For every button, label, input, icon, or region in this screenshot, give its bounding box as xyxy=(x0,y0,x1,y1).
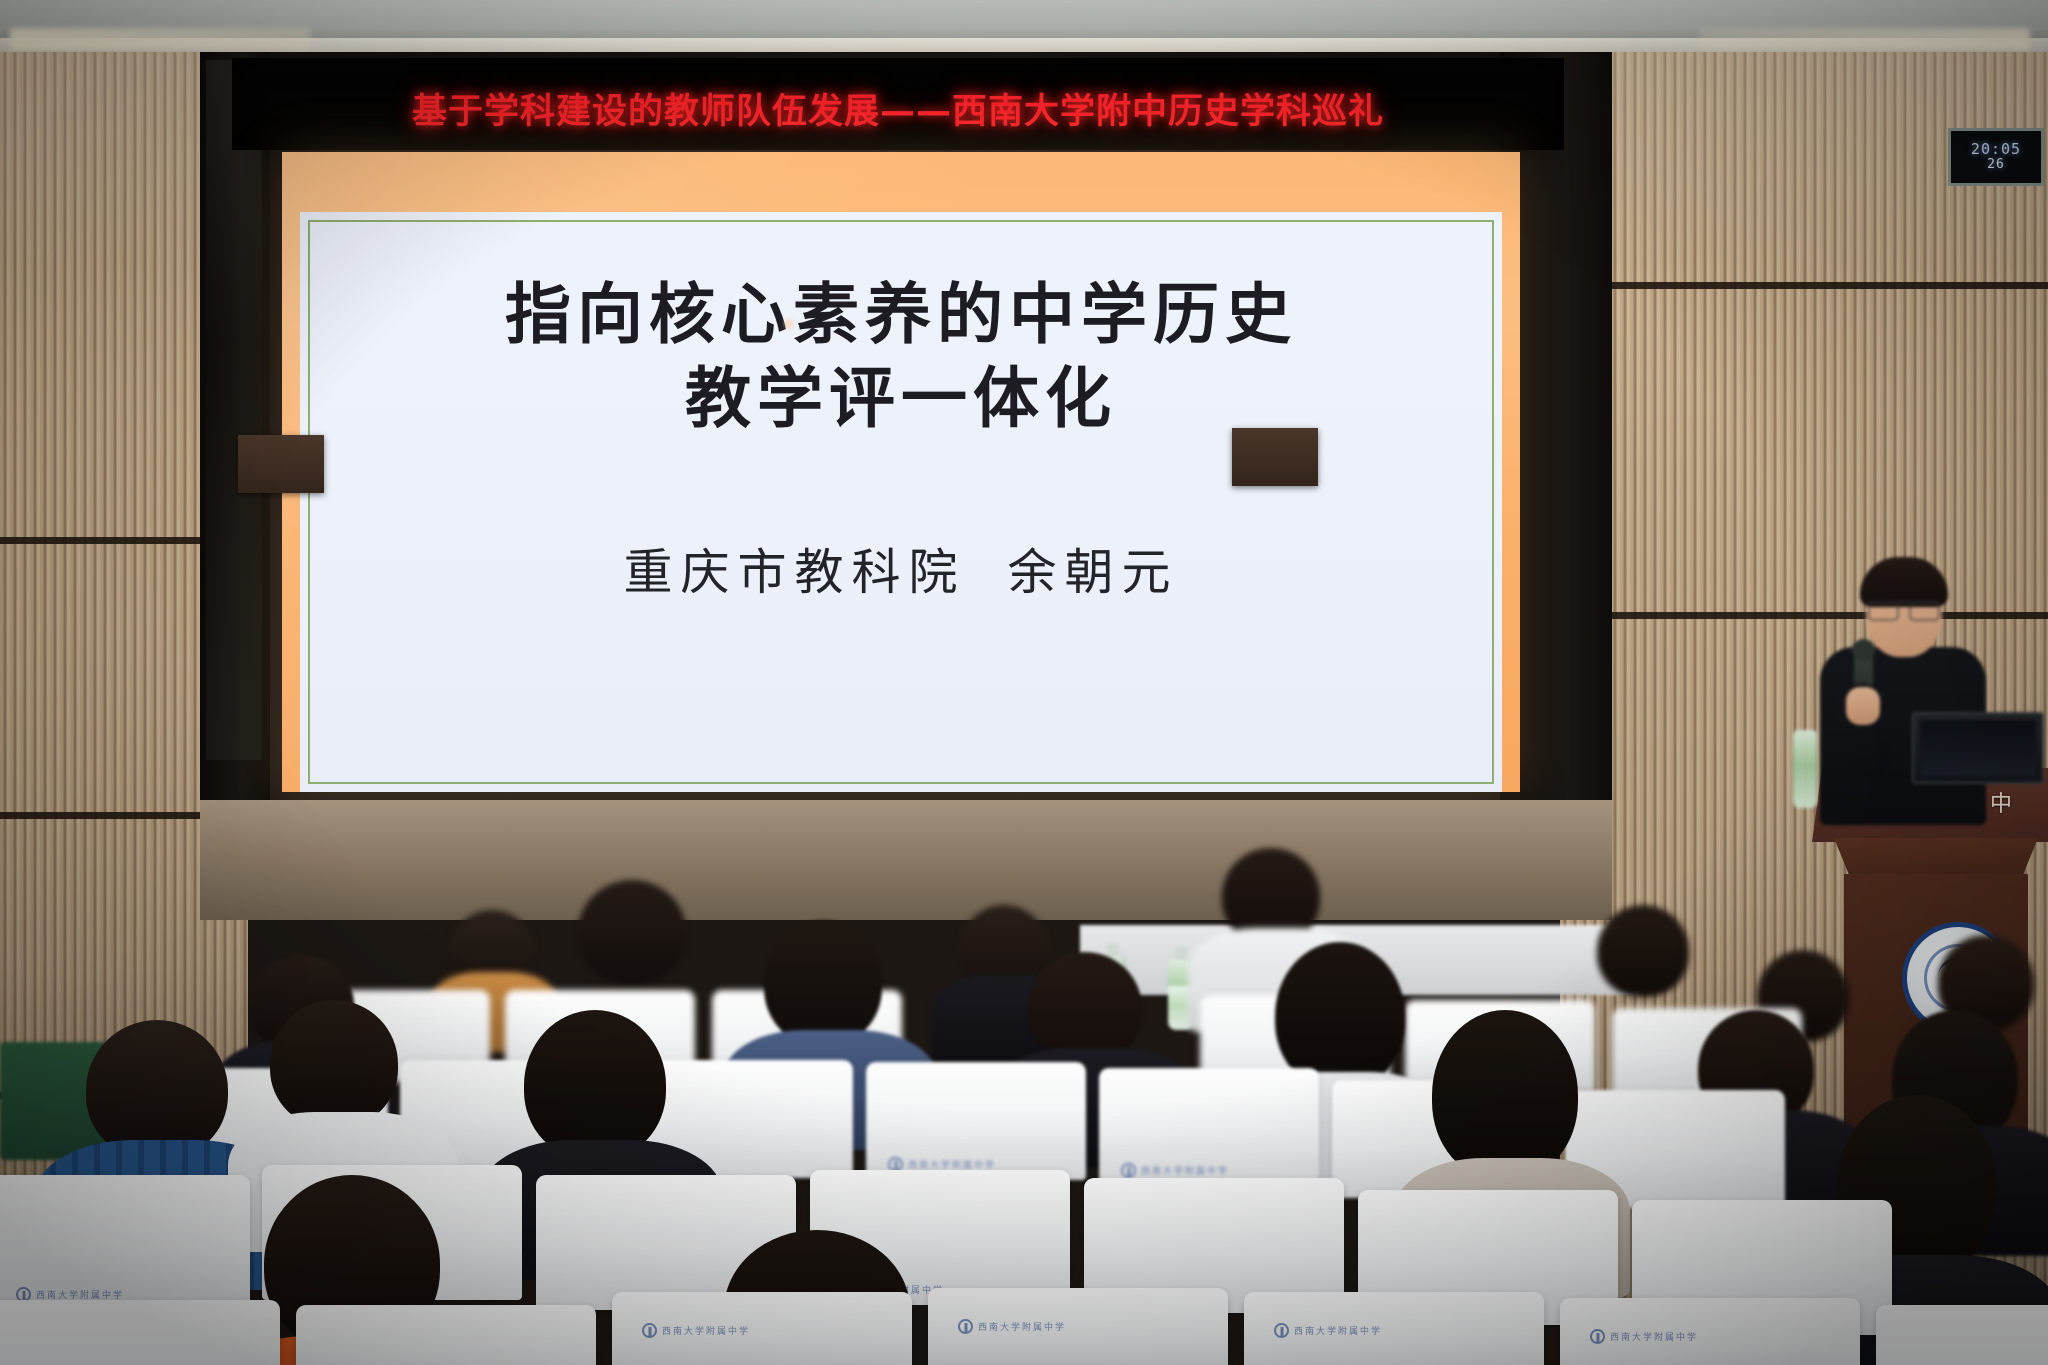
chair-logo-text: 西南大学附属中学 xyxy=(908,1158,996,1171)
glasses-icon xyxy=(1868,601,1940,617)
ceiling-light-left xyxy=(10,28,310,50)
column-glass-left xyxy=(206,60,262,760)
chair: 西南大学附属中学 xyxy=(928,1288,1228,1365)
projection-screen: 指向核心素养的中学历史 教学评一体化 重庆市教科院余朝元 xyxy=(282,152,1520,792)
chair-logo: 西南大学附属中学 xyxy=(642,1322,882,1338)
school-logo-icon xyxy=(1590,1329,1605,1344)
stage-front-edge xyxy=(200,800,1612,920)
water-bottle xyxy=(1793,730,1817,808)
chair-logo: 西南大学附属中学 xyxy=(958,1318,1198,1334)
chair: 西南大学附属中学 xyxy=(0,1175,250,1310)
chair-logo: 西南大学附属中学 xyxy=(1274,1322,1514,1338)
chair-logo-text: 西南大学附属中学 xyxy=(1294,1324,1382,1337)
presenter-hair xyxy=(1860,557,1948,607)
presentation-slide: 指向核心素养的中学历史 教学评一体化 重庆市教科院余朝元 xyxy=(300,212,1502,792)
screen-mount-left xyxy=(238,435,324,493)
chair-logo-text: 西南大学附属中学 xyxy=(1610,1330,1698,1343)
school-logo-icon xyxy=(958,1319,973,1334)
slide-title-line-2: 教学评一体化 xyxy=(685,356,1117,440)
chair-logo-text: 西南大学附属中学 xyxy=(978,1320,1066,1333)
chair: 西南大学附属中学 xyxy=(1244,1292,1544,1365)
chair-logo: 西南大学附属中学 xyxy=(1590,1328,1830,1344)
slide-title-line-1: 指向核心素养的中学历史 xyxy=(505,272,1297,356)
person-head xyxy=(578,880,686,984)
screen-mount-right xyxy=(1232,428,1318,486)
person-head xyxy=(1432,1010,1578,1180)
audience-person xyxy=(560,880,710,1000)
chair-logo-text: 西南大学附属中学 xyxy=(662,1324,750,1337)
school-logo-icon xyxy=(1274,1323,1289,1338)
slide-presenter-line: 重庆市教科院余朝元 xyxy=(623,533,1178,604)
school-logo-icon xyxy=(642,1323,657,1338)
chair-logo: 西南大学附属中学 xyxy=(1121,1162,1297,1178)
podium-neck xyxy=(1834,838,2038,878)
chair-logo-text: 西南大学附属中学 xyxy=(1141,1164,1229,1177)
laptop xyxy=(1912,712,2044,784)
person-head xyxy=(86,1020,228,1160)
chair xyxy=(0,1300,280,1365)
wall-seam xyxy=(1560,282,2048,289)
wall-led-clock: 20:05 26 xyxy=(1948,128,2044,186)
person-head xyxy=(1597,905,1689,997)
chair: 西南大学附属中学 xyxy=(1099,1068,1319,1186)
person-head xyxy=(524,1010,666,1160)
presentation-hall-photo: 基于学科建设的教师队伍发展——西南大学附中历史学科巡礼 指向核心素养的中学历史 … xyxy=(0,0,2048,1365)
presenter-person xyxy=(1800,565,2000,825)
chair: 西南大学附属中学 xyxy=(866,1062,1086,1180)
school-logo-icon xyxy=(1121,1163,1136,1178)
chair-logo-text: 西南大学附属中学 xyxy=(36,1288,124,1301)
led-banner: 基于学科建设的教师队伍发展——西南大学附中历史学科巡礼 xyxy=(232,58,1564,150)
presenter-organization: 重庆市教科院 xyxy=(623,544,965,601)
presenter-name: 余朝元 xyxy=(1008,544,1179,601)
chair: 西南大学附属中学 xyxy=(612,1292,912,1365)
wall-clock-line-1: 20:05 xyxy=(1971,142,2021,156)
presenter-hand xyxy=(1846,687,1880,725)
wall-clock-line-2: 26 xyxy=(1987,158,2005,172)
chair xyxy=(1876,1305,2048,1365)
person-head xyxy=(270,1000,398,1128)
person-head xyxy=(764,920,882,1046)
ceiling-light-right xyxy=(1700,28,2030,50)
led-banner-text: 基于学科建设的教师队伍发展——西南大学附中历史学科巡礼 xyxy=(412,83,1384,134)
chair xyxy=(296,1305,596,1365)
chair: 西南大学附属中学 xyxy=(1560,1298,1860,1365)
